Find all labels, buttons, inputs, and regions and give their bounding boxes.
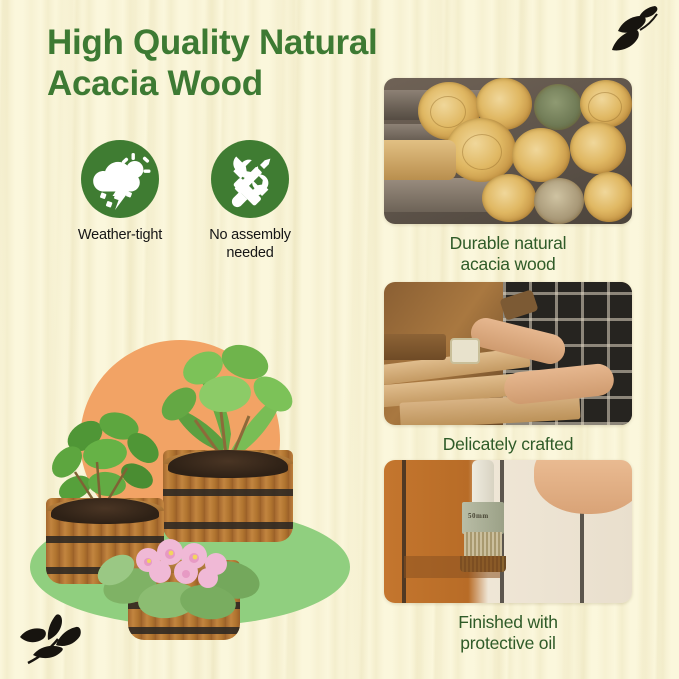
no-assembly-badge	[211, 140, 289, 218]
product-infographic: High Quality Natural Acacia Wood	[0, 0, 679, 679]
caption-protective-oil: Finished with protective oil	[384, 612, 632, 654]
feature-label-line2: needed	[226, 245, 273, 261]
caption-line2: protective oil	[460, 633, 555, 653]
photo-content: 50mm	[384, 460, 632, 603]
feature-label-line1: Weather-tight	[78, 227, 162, 243]
feature-no-assembly: No assembly needed	[185, 140, 315, 262]
wrench-screwdriver-icon	[211, 140, 289, 218]
feature-card-durable-wood: Durable natural acacia wood	[384, 78, 632, 275]
oil-stroke	[404, 556, 500, 578]
barrel-soil	[51, 498, 160, 524]
caption-durable-wood: Durable natural acacia wood	[384, 233, 632, 275]
weather-tight-badge	[81, 140, 159, 218]
photo-content	[384, 282, 632, 425]
hero-product-image	[18, 330, 368, 660]
brush-bristles	[464, 532, 502, 558]
barrel-hoop	[128, 627, 240, 634]
craftsman-measuring-wood-photo	[384, 282, 632, 425]
page-title-line1: High Quality Natural	[47, 23, 377, 62]
african-violet-plant	[90, 530, 275, 620]
planter-front	[128, 538, 240, 648]
barrel-hoop	[163, 489, 293, 496]
barrel-hoop	[163, 522, 293, 529]
caption-line2: acacia wood	[460, 254, 555, 274]
caption-line1: Durable natural	[450, 233, 567, 253]
barrel-soil	[168, 450, 288, 478]
storm-cloud-sun-icon	[81, 140, 159, 218]
tape-measure	[450, 338, 480, 364]
feature-no-assembly-label: No assembly needed	[185, 227, 315, 262]
feature-label-line1: No assembly	[209, 227, 291, 243]
feature-card-protective-oil: 50mm Finished with protective oil	[384, 460, 632, 654]
brush-applying-protective-oil-photo: 50mm	[384, 460, 632, 603]
caption-line1: Delicately crafted	[443, 434, 574, 454]
stacked-acacia-logs-photo	[384, 78, 632, 224]
feature-card-delicately-crafted: Delicately crafted	[384, 282, 632, 455]
caption-delicately-crafted: Delicately crafted	[384, 434, 632, 455]
feature-weather-tight-label: Weather-tight	[55, 227, 185, 245]
feature-weather-tight: Weather-tight	[55, 140, 185, 245]
hand	[534, 460, 632, 514]
barrel-planter-back-right	[163, 450, 293, 542]
caption-line1: Finished with	[458, 612, 558, 632]
brush-size-label: 50mm	[468, 512, 489, 520]
leaf-sprig-top-right	[595, 2, 667, 58]
photo-content	[384, 78, 632, 224]
